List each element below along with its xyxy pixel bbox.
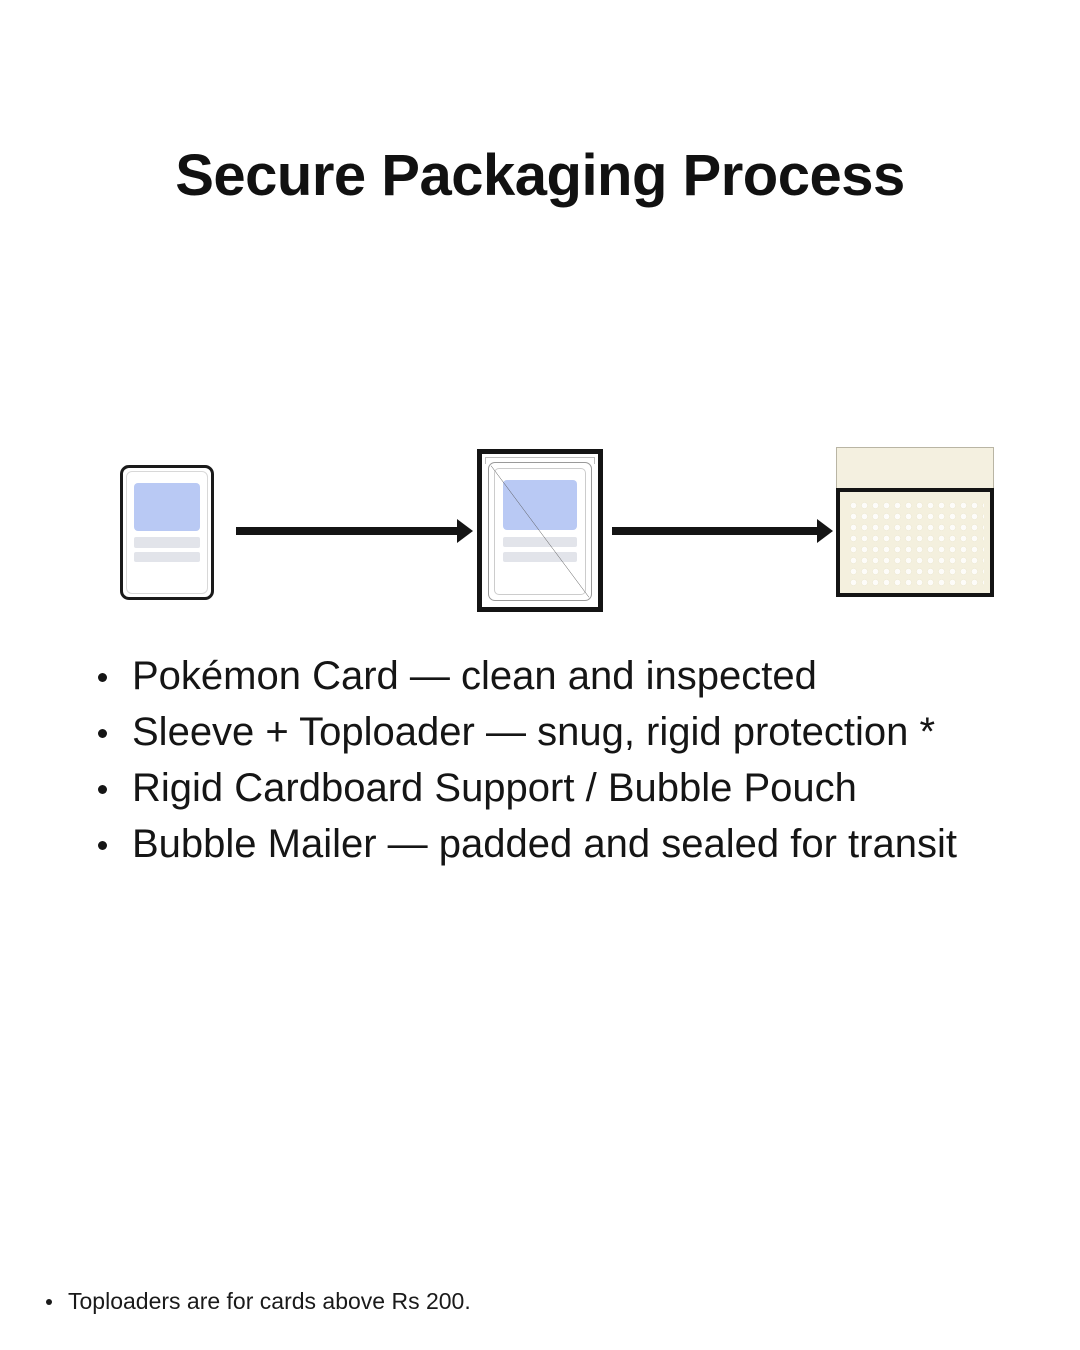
arrow-right-icon: [236, 527, 458, 535]
diagram-stage-sleeve-toploader: [477, 449, 603, 612]
list-item-label: Sleeve + Toploader — snug, rigid protect…: [132, 710, 935, 754]
packaging-process-diagram: [0, 430, 1080, 630]
list-item: Rigid Cardboard Support / Bubble Pouch: [88, 760, 1048, 816]
list-item-label: Bubble Mailer — padded and sealed for tr…: [132, 822, 957, 866]
list-item: Sleeve + Toploader — snug, rigid protect…: [88, 704, 1048, 760]
card-sleeve: [488, 462, 592, 601]
card-artwork-block: [134, 483, 200, 531]
list-item: Pokémon Card — clean and inspected: [88, 648, 1048, 704]
card-text-bar: [503, 537, 577, 548]
footnote-item: Toploaders are for cards above Rs 200.: [36, 1285, 936, 1317]
page-title: Secure Packaging Process: [0, 143, 1080, 210]
diagram-stage-pokemon-card: [120, 465, 214, 600]
slide-root: { "slide": { "title": "Secure Packaging …: [0, 0, 1080, 1350]
card-text-bar: [134, 552, 200, 562]
diagram-stage-bubble-mailer: [836, 447, 994, 597]
card-face: [494, 468, 586, 595]
list-item: Bubble Mailer — padded and sealed for tr…: [88, 816, 1048, 872]
footnote-list: Toploaders are for cards above Rs 200.: [36, 1285, 936, 1317]
bubble-wrap-pattern: [846, 498, 984, 587]
card-text-bar: [134, 537, 200, 547]
list-item-label: Pokémon Card — clean and inspected: [132, 654, 817, 698]
footnote-label: Toploaders are for cards above Rs 200.: [68, 1288, 471, 1314]
packaging-steps-list: Pokémon Card — clean and inspected Sleev…: [88, 648, 1048, 872]
card-text-bar: [503, 552, 577, 563]
card-face: [126, 471, 208, 594]
arrow-right-icon: [612, 527, 818, 535]
mailer-body: [836, 488, 994, 597]
card-artwork-block: [503, 480, 577, 530]
list-item-label: Rigid Cardboard Support / Bubble Pouch: [132, 766, 857, 810]
mailer-flap: [836, 447, 994, 489]
